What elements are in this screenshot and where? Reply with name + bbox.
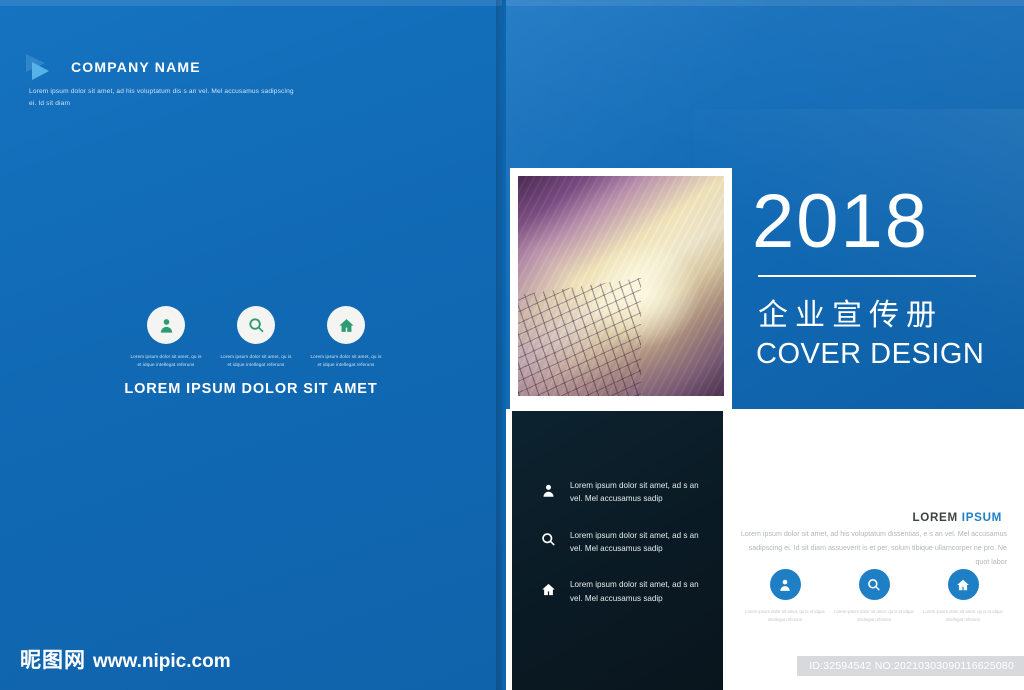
search-icon — [538, 530, 558, 550]
cover-title-block: 2018 企业宣传册 COVER DESIGN — [752, 186, 1002, 371]
cover-photo-frame — [510, 168, 732, 410]
architecture-photo — [518, 176, 724, 396]
back-cover-feature-caption: Lorem ipsum dolor sit amet, qu is et idq… — [308, 353, 384, 369]
user-icon — [770, 569, 801, 600]
white-panel-title-accent: IPSUM — [962, 511, 1002, 524]
white-info-panel: LOREM IPSUM Lorem ipsum dolor sit amet, … — [723, 411, 1024, 690]
list-item-text: Lorem ipsum dolor sit amet, ad s an vel.… — [570, 578, 710, 605]
white-panel-title-dark: LOREM — [912, 511, 961, 524]
white-panel-feature-caption: Lorem ipsum dolor sit amet, qu is et idq… — [834, 608, 914, 623]
brand-header: COMPANY NAME — [26, 52, 201, 82]
back-cover-feature-caption: Lorem ipsum dolor sit amet, qu is et idq… — [128, 353, 204, 369]
user-icon — [538, 480, 558, 500]
dark-info-list: Lorem ipsum dolor sit amet, ad s an vel.… — [538, 479, 710, 628]
search-icon — [237, 306, 275, 344]
brand-tagline: Lorem ipsum dolor sit amet, ad his volup… — [29, 86, 299, 110]
page-gutter — [496, 0, 506, 690]
cover-title-en: COVER DESIGN — [752, 338, 1002, 371]
back-cover-feature-caption: Lorem ipsum dolor sit amet, qu is et idq… — [218, 353, 294, 369]
white-panel-feature-3[interactable]: Lorem ipsum dolor sit amet, qu is et idq… — [923, 569, 1003, 623]
cover-year: 2018 — [752, 186, 1002, 259]
title-divider — [758, 275, 976, 277]
company-name: COMPANY NAME — [71, 59, 201, 75]
white-panel-feature-caption: Lorem ipsum dolor sit amet, qu is et idq… — [923, 608, 1003, 623]
back-cover-feature-row: Lorem ipsum dolor sit amet, qu is et idq… — [128, 306, 384, 369]
back-cover-feature-1[interactable]: Lorem ipsum dolor sit amet, qu is et idq… — [128, 306, 204, 369]
watermark-site-name: 昵图网 — [20, 644, 86, 674]
asset-id-badge: ID:32594542 NO:20210303090116625080 — [797, 656, 1024, 676]
list-item-text: Lorem ipsum dolor sit amet, ad s an vel.… — [570, 479, 710, 506]
white-panel-body: Lorem ipsum dolor sit amet, ad his volup… — [739, 528, 1007, 569]
white-panel-feature-row: Lorem ipsum dolor sit amet, qu is et idq… — [745, 569, 1003, 623]
brochure-cover-artboard: Lorem ipsum dolor sit amet, qu is et idq… — [0, 0, 1024, 690]
dark-info-panel: Lorem ipsum dolor sit amet, ad s an vel.… — [512, 411, 723, 690]
white-panel-feature-2[interactable]: Lorem ipsum dolor sit amet, qu is et idq… — [834, 569, 914, 623]
watermark: 昵图网 www.nipic.com — [20, 644, 231, 674]
white-panel-title: LOREM IPSUM — [912, 511, 1002, 524]
watermark-site-url: www.nipic.com — [93, 651, 231, 673]
list-item[interactable]: Lorem ipsum dolor sit amet, ad s an vel.… — [538, 479, 710, 506]
home-icon — [948, 569, 979, 600]
home-icon — [538, 579, 558, 599]
play-triangle-icon — [26, 52, 62, 82]
list-item-text: Lorem ipsum dolor sit amet, ad s an vel.… — [570, 529, 710, 556]
user-icon — [147, 306, 185, 344]
back-cover-feature-2[interactable]: Lorem ipsum dolor sit amet, qu is et idq… — [218, 306, 294, 369]
list-item[interactable]: Lorem ipsum dolor sit amet, ad s an vel.… — [538, 529, 710, 556]
home-icon — [327, 306, 365, 344]
cover-title-cn: 企业宣传册 — [752, 290, 1002, 334]
back-cover-feature-3[interactable]: Lorem ipsum dolor sit amet, qu is et idq… — [308, 306, 384, 369]
search-icon — [859, 569, 890, 600]
list-item[interactable]: Lorem ipsum dolor sit amet, ad s an vel.… — [538, 578, 710, 605]
white-panel-feature-caption: Lorem ipsum dolor sit amet, qu is et idq… — [745, 608, 825, 623]
back-cover-title: LOREM IPSUM DOLOR SIT AMET — [0, 381, 502, 397]
white-panel-feature-1[interactable]: Lorem ipsum dolor sit amet, qu is et idq… — [745, 569, 825, 623]
